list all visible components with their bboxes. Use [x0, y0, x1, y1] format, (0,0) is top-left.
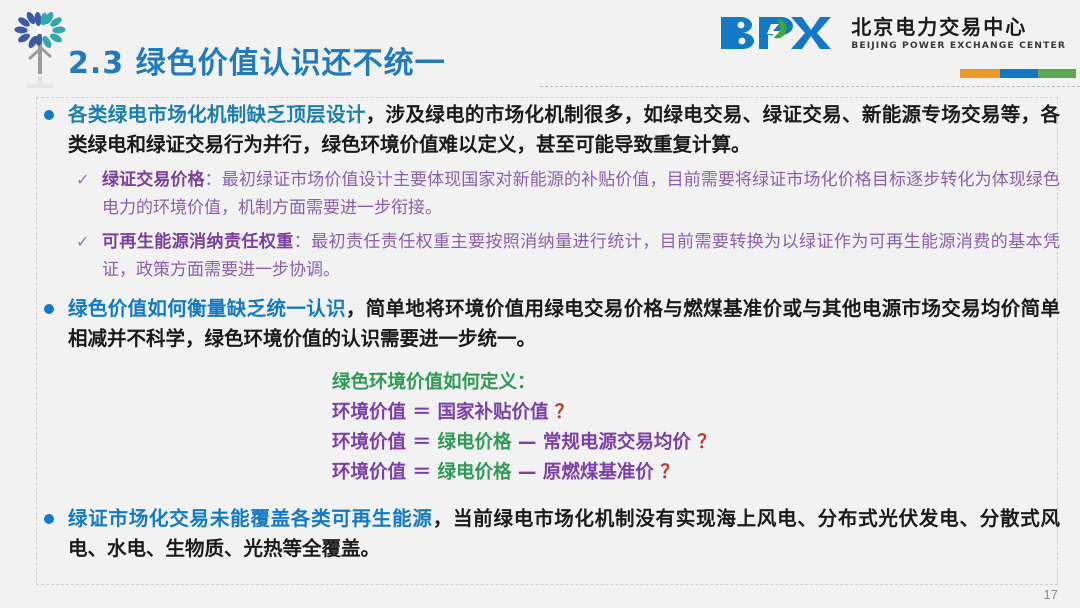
sub-bullet-item-2: ✓可再生能源消纳责任权重：最初责任责任权重主要按照消纳量进行统计，目前需要转换为… [36, 228, 1060, 284]
bullet-dot-icon [44, 110, 54, 120]
bullet-item-2: 绿色价值如何衡量缺乏统一认识，简单地将环境价值用绿电交易价格与燃煤基准价或与其他… [36, 294, 1060, 354]
bullet-2-highlight: 绿色价值如何衡量缺乏统一认识 [68, 297, 346, 320]
equation-3-op1: ＝ [412, 462, 431, 483]
slide-content: 各类绿电市场化机制缺乏顶层设计，涉及绿电的市场化机制很多，如绿电交易、绿证交易、… [36, 100, 1060, 580]
page-number: 17 [1044, 587, 1058, 602]
equation-2-lhs: 环境价值 [332, 432, 406, 453]
company-name-en: BEIJING POWER EXCHANGE CENTER [851, 41, 1066, 50]
equations-block: 绿色环境价值如何定义： 环境价值 ＝ 国家补贴价值 ？ 环境价值 ＝ 绿电价格 … [36, 368, 1060, 488]
equation-line-3: 环境价值 ＝ 绿电价格 — 原燃煤基准价 ？ [332, 458, 1060, 488]
equation-3-rhs1: 绿电价格 [437, 462, 511, 483]
bpx-wordmark-icon [719, 15, 841, 53]
header-divider [540, 86, 1080, 87]
equation-line-2: 环境价值 ＝ 绿电价格 — 常规电源交易均价 ？ [332, 428, 1060, 458]
page-title: 2.3 绿色价值认识还不统一 [68, 38, 446, 82]
sub-bullet-2-highlight: 可再生能源消纳责任权重 [102, 232, 294, 252]
equations-title: 绿色环境价值如何定义： [332, 368, 1060, 398]
accent-bar-blue [1000, 69, 1038, 78]
sub-bullet-1-highlight: 绿证交易价格 [102, 170, 205, 190]
equation-2-rhs1: 绿电价格 [437, 432, 511, 453]
check-icon: ✓ [76, 169, 89, 191]
bullet-dot-icon [44, 514, 54, 524]
accent-bar-orange [960, 69, 1000, 78]
bpx-logo: 北京电力交易中心 BEIJING POWER EXCHANGE CENTER [719, 12, 1066, 56]
check-icon: ✓ [76, 231, 89, 253]
equation-3-lhs: 环境价值 [332, 462, 406, 483]
bullet-dot-icon [44, 304, 54, 314]
equation-3-op2: — [518, 462, 537, 483]
equation-1-question: ？ [555, 402, 574, 423]
accent-bar-green [1038, 69, 1076, 78]
equation-3-rhs2: 原燃煤基准价 [543, 462, 654, 483]
bullet-item-3: 绿证市场化交易未能覆盖各类可再生能源，当前绿电市场化机制没有实现海上风电、分布式… [36, 504, 1060, 564]
sub-bullet-item-1: ✓绿证交易价格：最初绿证市场价值设计主要体现国家对新能源的补贴价值，目前需要将绿… [36, 166, 1060, 222]
equation-1-op: ＝ [412, 402, 431, 423]
equation-1-rhs: 国家补贴价值 [437, 402, 548, 423]
bullet-item-1: 各类绿电市场化机制缺乏顶层设计，涉及绿电的市场化机制很多，如绿电交易、绿证交易、… [36, 100, 1060, 160]
spacer [36, 284, 1060, 294]
equation-2-question: ？ [697, 432, 716, 453]
bpx-company-names: 北京电力交易中心 BEIJING POWER EXCHANGE CENTER [851, 17, 1066, 50]
company-name-cn: 北京电力交易中心 [851, 17, 1066, 37]
bullet-3-highlight: 绿证市场化交易未能覆盖各类可再生能源 [68, 507, 433, 530]
accent-color-bars [960, 69, 1076, 78]
equation-2-op1: ＝ [412, 432, 431, 453]
equation-2-op2: — [518, 432, 537, 453]
spacer [36, 488, 1060, 504]
bullet-1-highlight: 各类绿电市场化机制缺乏顶层设计 [68, 103, 366, 126]
equation-line-1: 环境价值 ＝ 国家补贴价值 ？ [332, 398, 1060, 428]
equation-2-rhs2: 常规电源交易均价 [543, 432, 691, 453]
equation-1-lhs: 环境价值 [332, 402, 406, 423]
tree-logo-icon [8, 4, 72, 88]
sub-bullet-1-text: ：最初绿证市场价值设计主要体现国家对新能源的补贴价值，目前需要将绿证市场化价格目… [102, 170, 1060, 218]
slide-header: 2.3 绿色价值认识还不统一 北京电力交易中心 BEIJING POWER EX [0, 0, 1080, 92]
equation-3-question: ？ [660, 462, 679, 483]
slide: 2.3 绿色价值认识还不统一 北京电力交易中心 BEIJING POWER EX [0, 0, 1080, 608]
